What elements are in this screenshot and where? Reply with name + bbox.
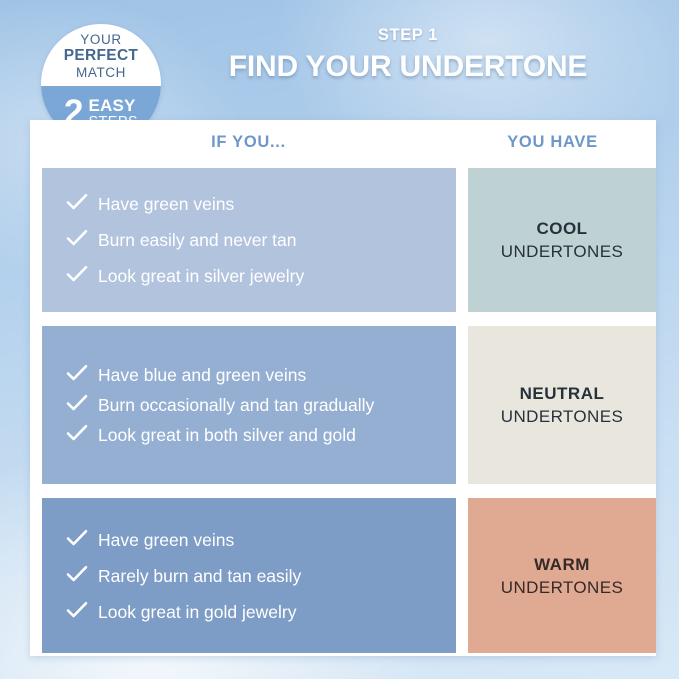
list-item: Have green veins [66, 529, 440, 551]
criteria-text: Look great in both silver and gold [98, 424, 440, 446]
criteria-text: Burn occasionally and tan gradually [98, 394, 440, 416]
check-icon [66, 364, 92, 382]
criteria-text: Look great in silver jewelry [98, 265, 440, 287]
badge-easy-label: EASY [88, 97, 138, 114]
criteria-text: Rarely burn and tan easily [98, 565, 440, 587]
criteria-text: Have blue and green veins [98, 364, 440, 386]
badge-your-label: YOUR [41, 32, 161, 47]
check-icon [66, 601, 92, 619]
header: STEP 1 FIND YOUR UNDERTONE [178, 26, 638, 84]
column-header-you-have: YOU HAVE [468, 133, 637, 152]
comparison-rows: Have green veins Burn easily and never t… [42, 168, 656, 667]
check-icon [66, 394, 92, 412]
undertone-sublabel: UNDERTONES [501, 405, 623, 428]
check-icon [66, 229, 92, 247]
result-swatch-cool: COOL UNDERTONES [468, 168, 656, 312]
step-label: STEP 1 [178, 26, 638, 45]
check-icon [66, 565, 92, 583]
column-header-if-you: IF YOU... [42, 133, 455, 152]
list-item: Look great in both silver and gold [66, 424, 440, 446]
check-icon [66, 265, 92, 283]
undertone-sublabel: UNDERTONES [501, 576, 623, 599]
table-row: Have green veins Rarely burn and tan eas… [42, 498, 656, 653]
check-icon [66, 529, 92, 547]
criteria-text: Have green veins [98, 529, 440, 551]
content-card: IF YOU... YOU HAVE Have green veins [30, 120, 656, 656]
table-row: Have green veins Burn easily and never t… [42, 168, 656, 312]
criteria-panel-warm: Have green veins Rarely burn and tan eas… [42, 498, 456, 653]
result-swatch-neutral: NEUTRAL UNDERTONES [468, 326, 656, 484]
undertone-name: WARM [534, 553, 590, 576]
criteria-text: Look great in gold jewelry [98, 601, 440, 623]
undertone-sublabel: UNDERTONES [501, 240, 623, 263]
badge-match-label: MATCH [41, 65, 161, 81]
undertone-name: NEUTRAL [520, 382, 605, 405]
list-item: Look great in silver jewelry [66, 265, 440, 287]
result-swatch-warm: WARM UNDERTONES [468, 498, 656, 653]
check-icon [66, 424, 92, 442]
page-title: FIND YOUR UNDERTONE [178, 50, 638, 84]
list-item: Burn occasionally and tan gradually [66, 394, 440, 416]
criteria-text: Burn easily and never tan [98, 229, 440, 251]
list-item: Rarely burn and tan easily [66, 565, 440, 587]
list-item: Have blue and green veins [66, 364, 440, 386]
list-item: Have green veins [66, 193, 440, 215]
undertone-name: COOL [536, 217, 587, 240]
badge-top-section: YOUR PERFECT MATCH [41, 24, 161, 86]
undertone-infographic: YOUR PERFECT MATCH 2 EASY STEPS STEP 1 F… [0, 0, 679, 679]
criteria-text: Have green veins [98, 193, 440, 215]
column-headers: IF YOU... YOU HAVE [30, 133, 656, 161]
list-item: Burn easily and never tan [66, 229, 440, 251]
check-icon [66, 193, 92, 211]
badge-perfect-label: PERFECT [41, 47, 161, 65]
list-item: Look great in gold jewelry [66, 601, 440, 623]
criteria-panel-neutral: Have blue and green veins Burn occasiona… [42, 326, 456, 484]
table-row: Have blue and green veins Burn occasiona… [42, 326, 656, 484]
criteria-panel-cool: Have green veins Burn easily and never t… [42, 168, 456, 312]
